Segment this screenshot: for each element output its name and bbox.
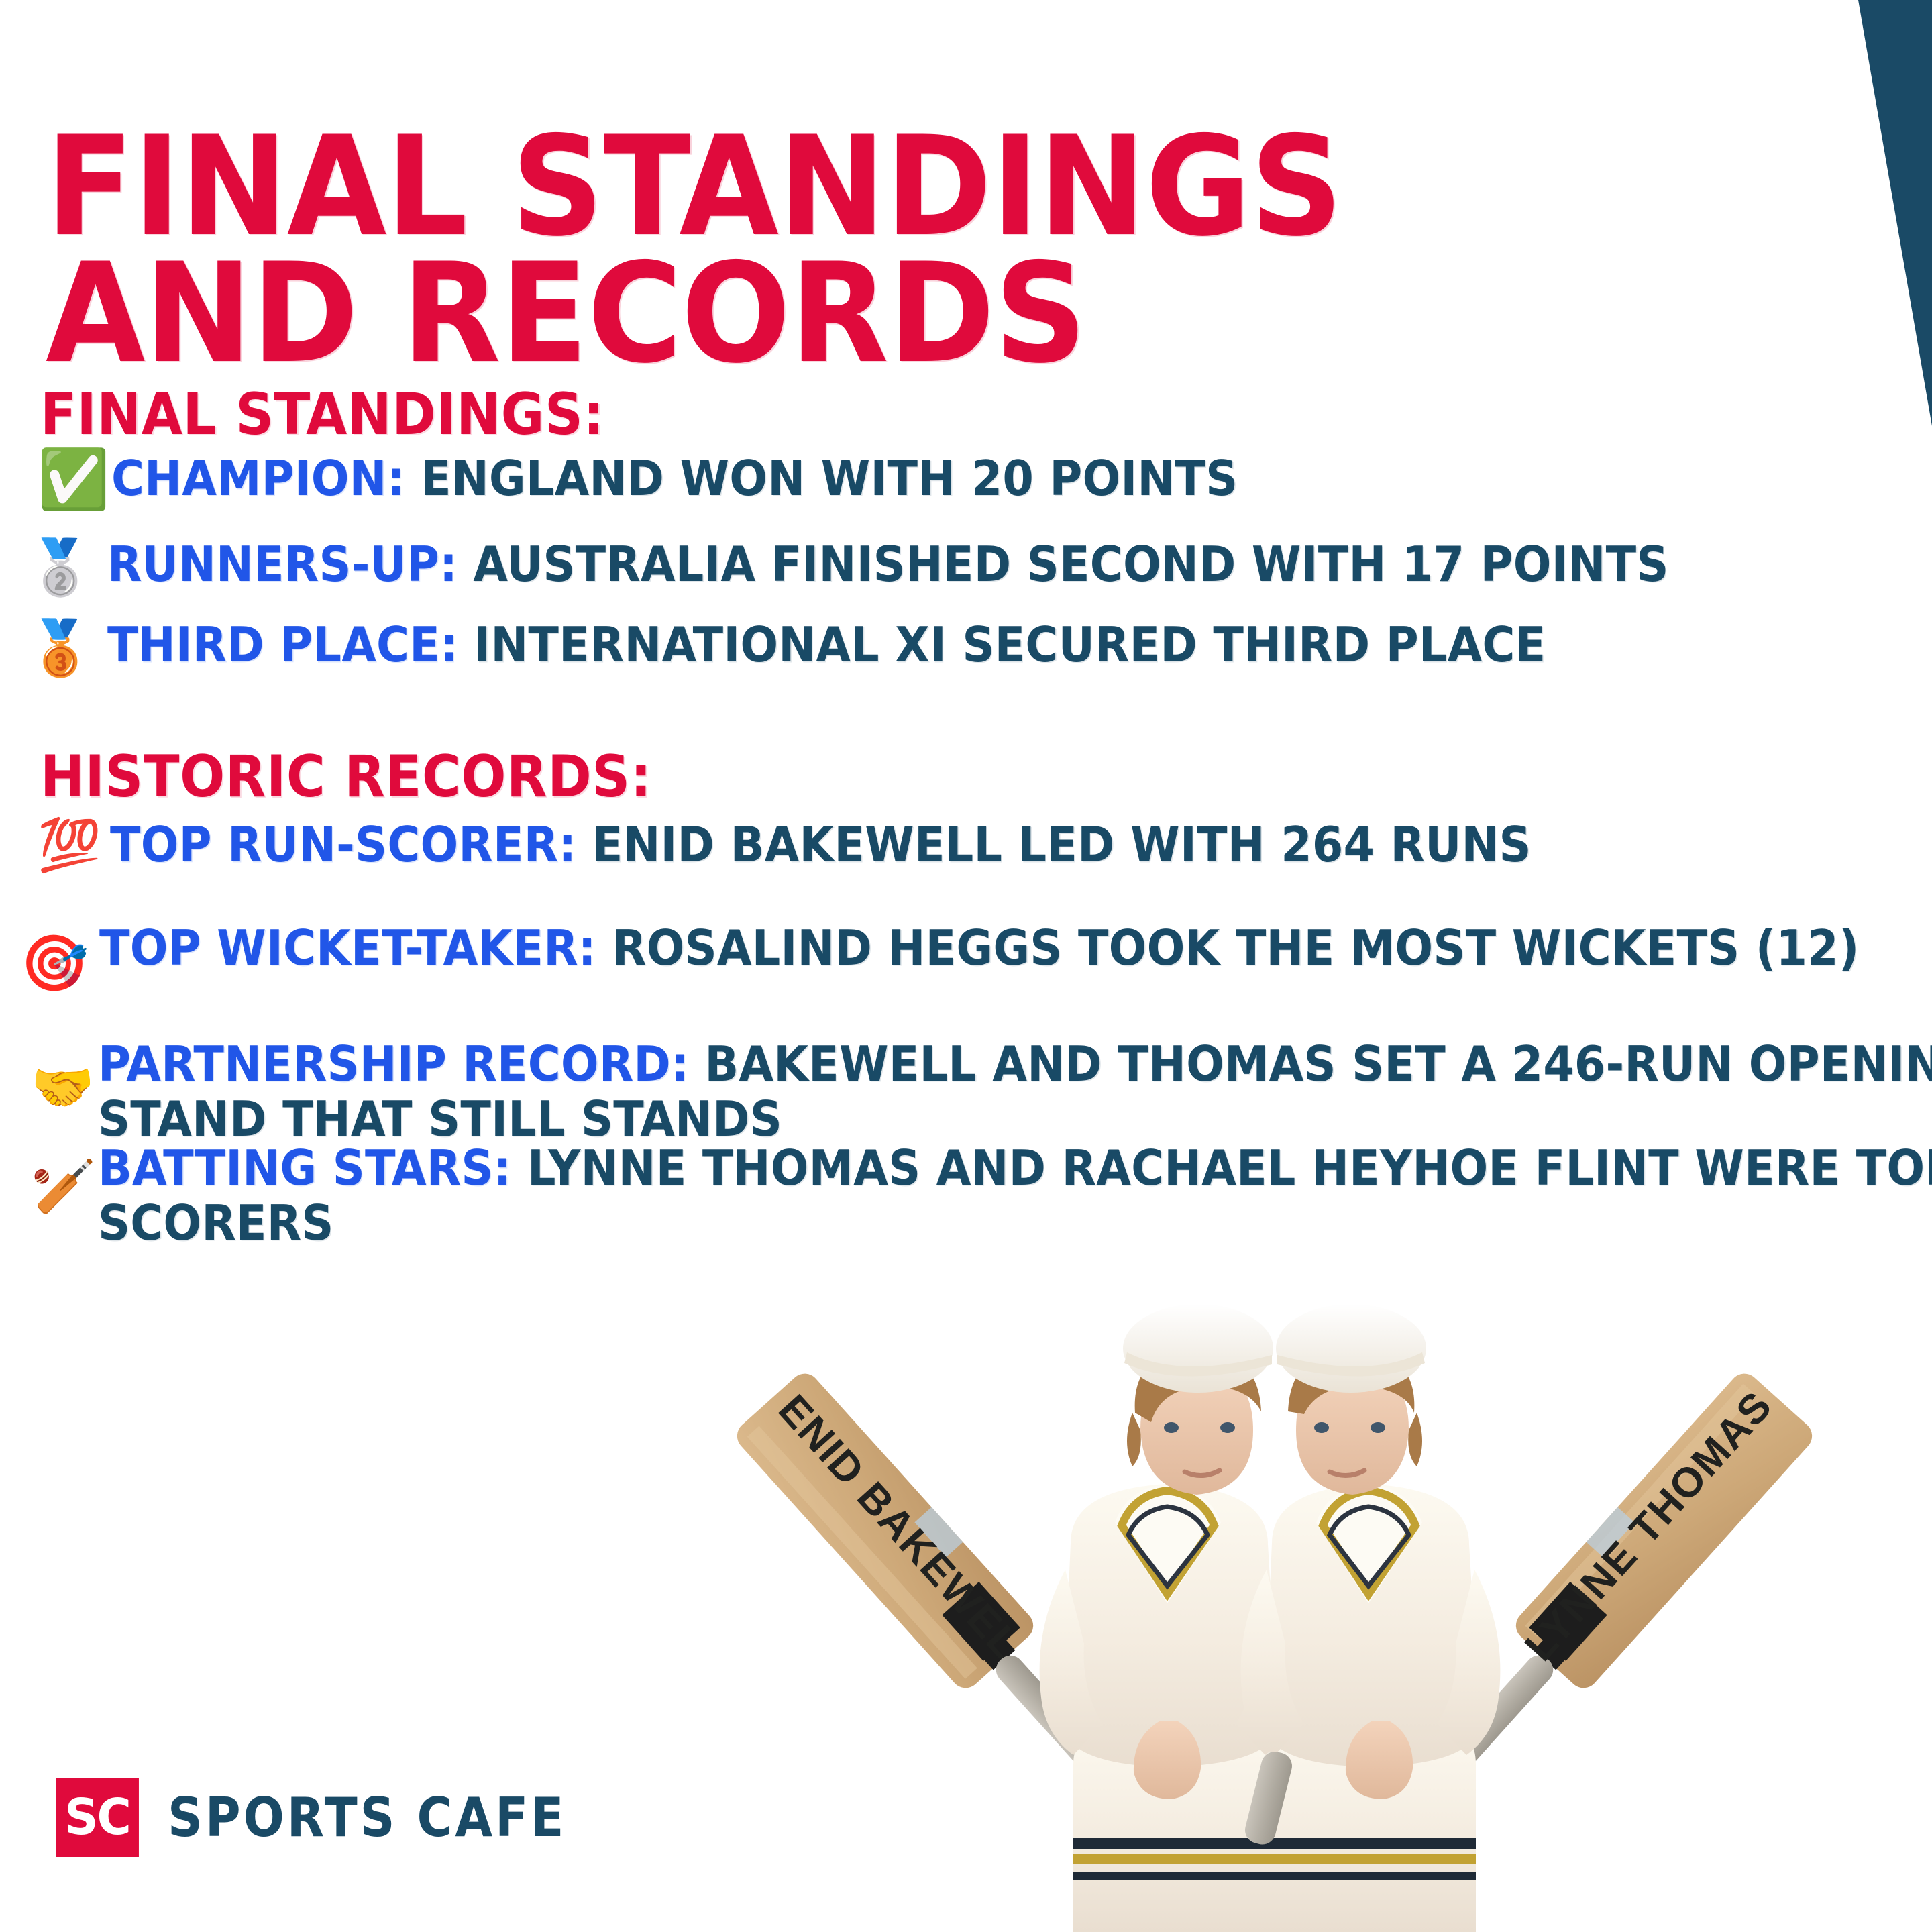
standings-item-third-place-label: THIRD PLACE:: [107, 616, 458, 673]
records-item-top-wicket-taker-label: TOP WICKET-TAKER:: [99, 920, 596, 976]
brand-logo: SC SPORTS CAFE: [58, 1778, 566, 1857]
second-place-medal-icon: 🥈: [27, 537, 107, 594]
hundred-points-icon: 💯: [38, 817, 110, 871]
page-title-line-1: FINAL STANDINGS: [46, 124, 1511, 251]
third-place-medal-icon: 🥉: [27, 617, 107, 675]
records-item-top-run-scorer: 💯 TOP RUN-SCORER: ENID BAKEWELL LED WITH…: [38, 817, 1490, 872]
records-item-top-run-scorer-label: TOP RUN-SCORER:: [110, 816, 576, 873]
player-lynne-thomas: [1241, 1304, 1501, 1932]
standings-item-runners-up: 🥈 RUNNERS-UP: AUSTRALIA FINISHED SECOND …: [27, 537, 1623, 594]
page-title-line-2: AND RECORDS: [46, 251, 1511, 378]
standings-item-third-place-text: THIRD PLACE: INTERNATIONAL XI SECURED TH…: [107, 617, 1546, 672]
standings-item-third-place-body: INTERNATIONAL XI SECURED THIRD PLACE: [474, 616, 1546, 673]
brand-wordmark: SPORTS CAFE: [168, 1786, 566, 1849]
records-item-partnership-record: 🤝 PARTNERSHIP RECORD: BAKEWELL AND THOMA…: [31, 1036, 1932, 1146]
page-title: FINAL STANDINGS AND RECORDS: [46, 124, 1511, 377]
standings-item-champion-body: ENGLAND WON WITH 20 POINTS: [421, 450, 1238, 506]
records-item-top-wicket-taker: 🎯 TOP WICKET-TAKER: ROSALIND HEGGS TOOK …: [20, 920, 1808, 991]
handshake-icon: 🤝: [31, 1036, 98, 1113]
standings-item-champion-text: CHAMPION: ENGLAND WON WITH 20 POINTS: [111, 451, 1238, 506]
standings-item-third-place: 🥉 THIRD PLACE: INTERNATIONAL XI SECURED …: [27, 617, 1504, 675]
svg-text:ENID BAKEWEL: ENID BAKEWEL: [769, 1386, 1030, 1668]
brand-mark-sc: SC: [56, 1778, 139, 1857]
section-heading-final-standings: FINAL STANDINGS:: [40, 381, 604, 448]
records-item-top-wicket-taker-body: ROSALIND HEGGS TOOK THE MOST WICKETS (12…: [612, 920, 1859, 976]
records-item-partnership-record-text: PARTNERSHIP RECORD: BAKEWELL AND THOMAS …: [98, 1036, 1932, 1146]
standings-item-champion: ✅ CHAMPION: ENGLAND WON WITH 20 POINTS: [38, 451, 1205, 508]
standings-item-runners-up-body: AUSTRALIA FINISHED SECOND WITH 17 POINTS: [473, 536, 1668, 592]
svg-text:LYNNE THOMAS: LYNNE THOMAS: [1516, 1383, 1781, 1670]
direct-hit-target-icon: 🎯: [20, 920, 99, 991]
standings-item-runners-up-text: RUNNERS-UP: AUSTRALIA FINISHED SECOND WI…: [107, 537, 1669, 592]
white-check-mark-icon: ✅: [38, 451, 111, 508]
records-item-batting-stars-label: BATTING STARS:: [98, 1140, 512, 1196]
section-heading-historic-records: HISTORIC RECORDS:: [40, 743, 652, 810]
standings-item-runners-up-label: RUNNERS-UP:: [107, 536, 458, 592]
records-item-partnership-record-label: PARTNERSHIP RECORD:: [98, 1036, 689, 1092]
cricketers-illustration: ENID BAKEWEL LYNNE THOMAS: [698, 1254, 1851, 1932]
records-item-batting-stars-text: BATTING STARS: LYNNE THOMAS AND RACHAEL …: [98, 1140, 1932, 1250]
records-item-top-run-scorer-body: ENID BAKEWELL LED WITH 264 RUNS: [592, 816, 1532, 873]
records-item-batting-stars: 🏏 BATTING STARS: LYNNE THOMAS AND RACHAE…: [31, 1140, 1932, 1250]
standings-item-champion-label: CHAMPION:: [111, 450, 405, 506]
records-item-top-run-scorer-text: TOP RUN-SCORER: ENID BAKEWELL LED WITH 2…: [110, 817, 1532, 872]
cricket-game-icon: 🏏: [31, 1140, 98, 1213]
records-item-top-wicket-taker-text: TOP WICKET-TAKER: ROSALIND HEGGS TOOK TH…: [99, 920, 1860, 975]
